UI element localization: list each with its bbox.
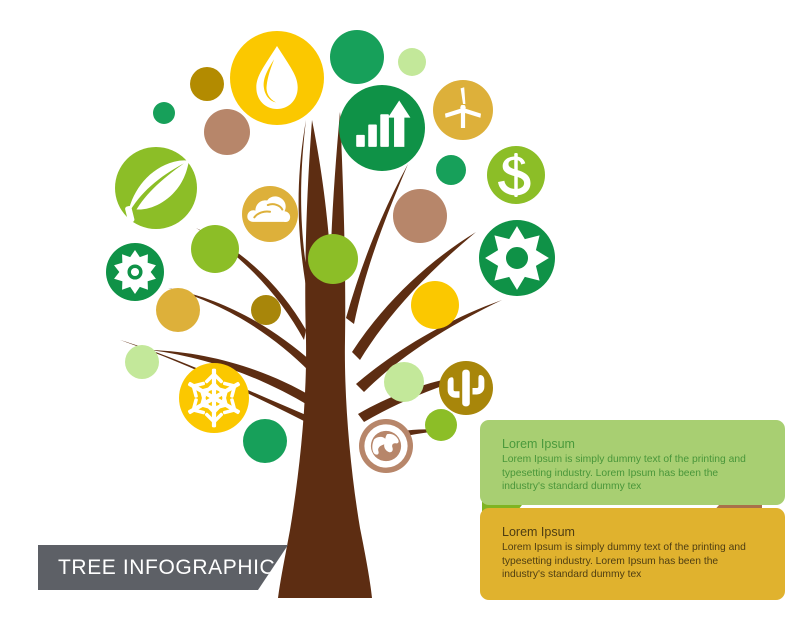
infographic-canvas: TREE INFOGRAPHIC Lorem Ipsum Lorem Ipsum… <box>0 0 800 623</box>
leaf-icon[interactable] <box>115 147 197 229</box>
gear-icon[interactable] <box>106 243 164 301</box>
decorative-circle <box>384 362 424 402</box>
decorative-circle <box>243 419 287 463</box>
callout-green-body: Lorem Ipsum is simply dummy text of the … <box>502 453 763 494</box>
decorative-circle <box>330 30 384 84</box>
callout-gold-body: Lorem Ipsum is simply dummy text of the … <box>502 541 763 582</box>
callout-gold[interactable]: Lorem Ipsum Lorem Ipsum is simply dummy … <box>480 508 785 600</box>
callout-green-title: Lorem Ipsum <box>502 436 763 452</box>
snowflake-icon[interactable] <box>179 363 249 433</box>
callout-green[interactable]: Lorem Ipsum Lorem Ipsum is simply dummy … <box>480 420 785 505</box>
decorative-circle <box>436 155 466 185</box>
dollar-icon[interactable] <box>487 146 545 204</box>
decorative-circle <box>204 109 250 155</box>
decorative-circle <box>398 48 426 76</box>
decorative-circle <box>153 102 175 124</box>
cloud-icon[interactable] <box>242 186 298 242</box>
decorative-circle <box>308 234 358 284</box>
sun-icon[interactable] <box>479 220 555 296</box>
page-title-banner: TREE INFOGRAPHIC <box>38 545 288 590</box>
growth-chart-icon[interactable] <box>339 85 425 171</box>
decorative-circle <box>156 288 200 332</box>
decorative-circle <box>125 345 159 379</box>
decorative-circle <box>393 189 447 243</box>
globe-icon[interactable] <box>359 419 413 473</box>
callout-gold-title: Lorem Ipsum <box>502 524 763 540</box>
decorative-circle <box>411 281 459 329</box>
water-drop-icon[interactable] <box>230 31 324 125</box>
page-title: TREE INFOGRAPHIC <box>58 556 275 580</box>
decorative-circle <box>191 225 239 273</box>
decorative-circle <box>251 295 281 325</box>
wind-turbine-icon[interactable] <box>433 80 493 140</box>
decorative-circle <box>425 409 457 441</box>
cactus-icon[interactable] <box>439 361 493 415</box>
decorative-circle <box>190 67 224 101</box>
